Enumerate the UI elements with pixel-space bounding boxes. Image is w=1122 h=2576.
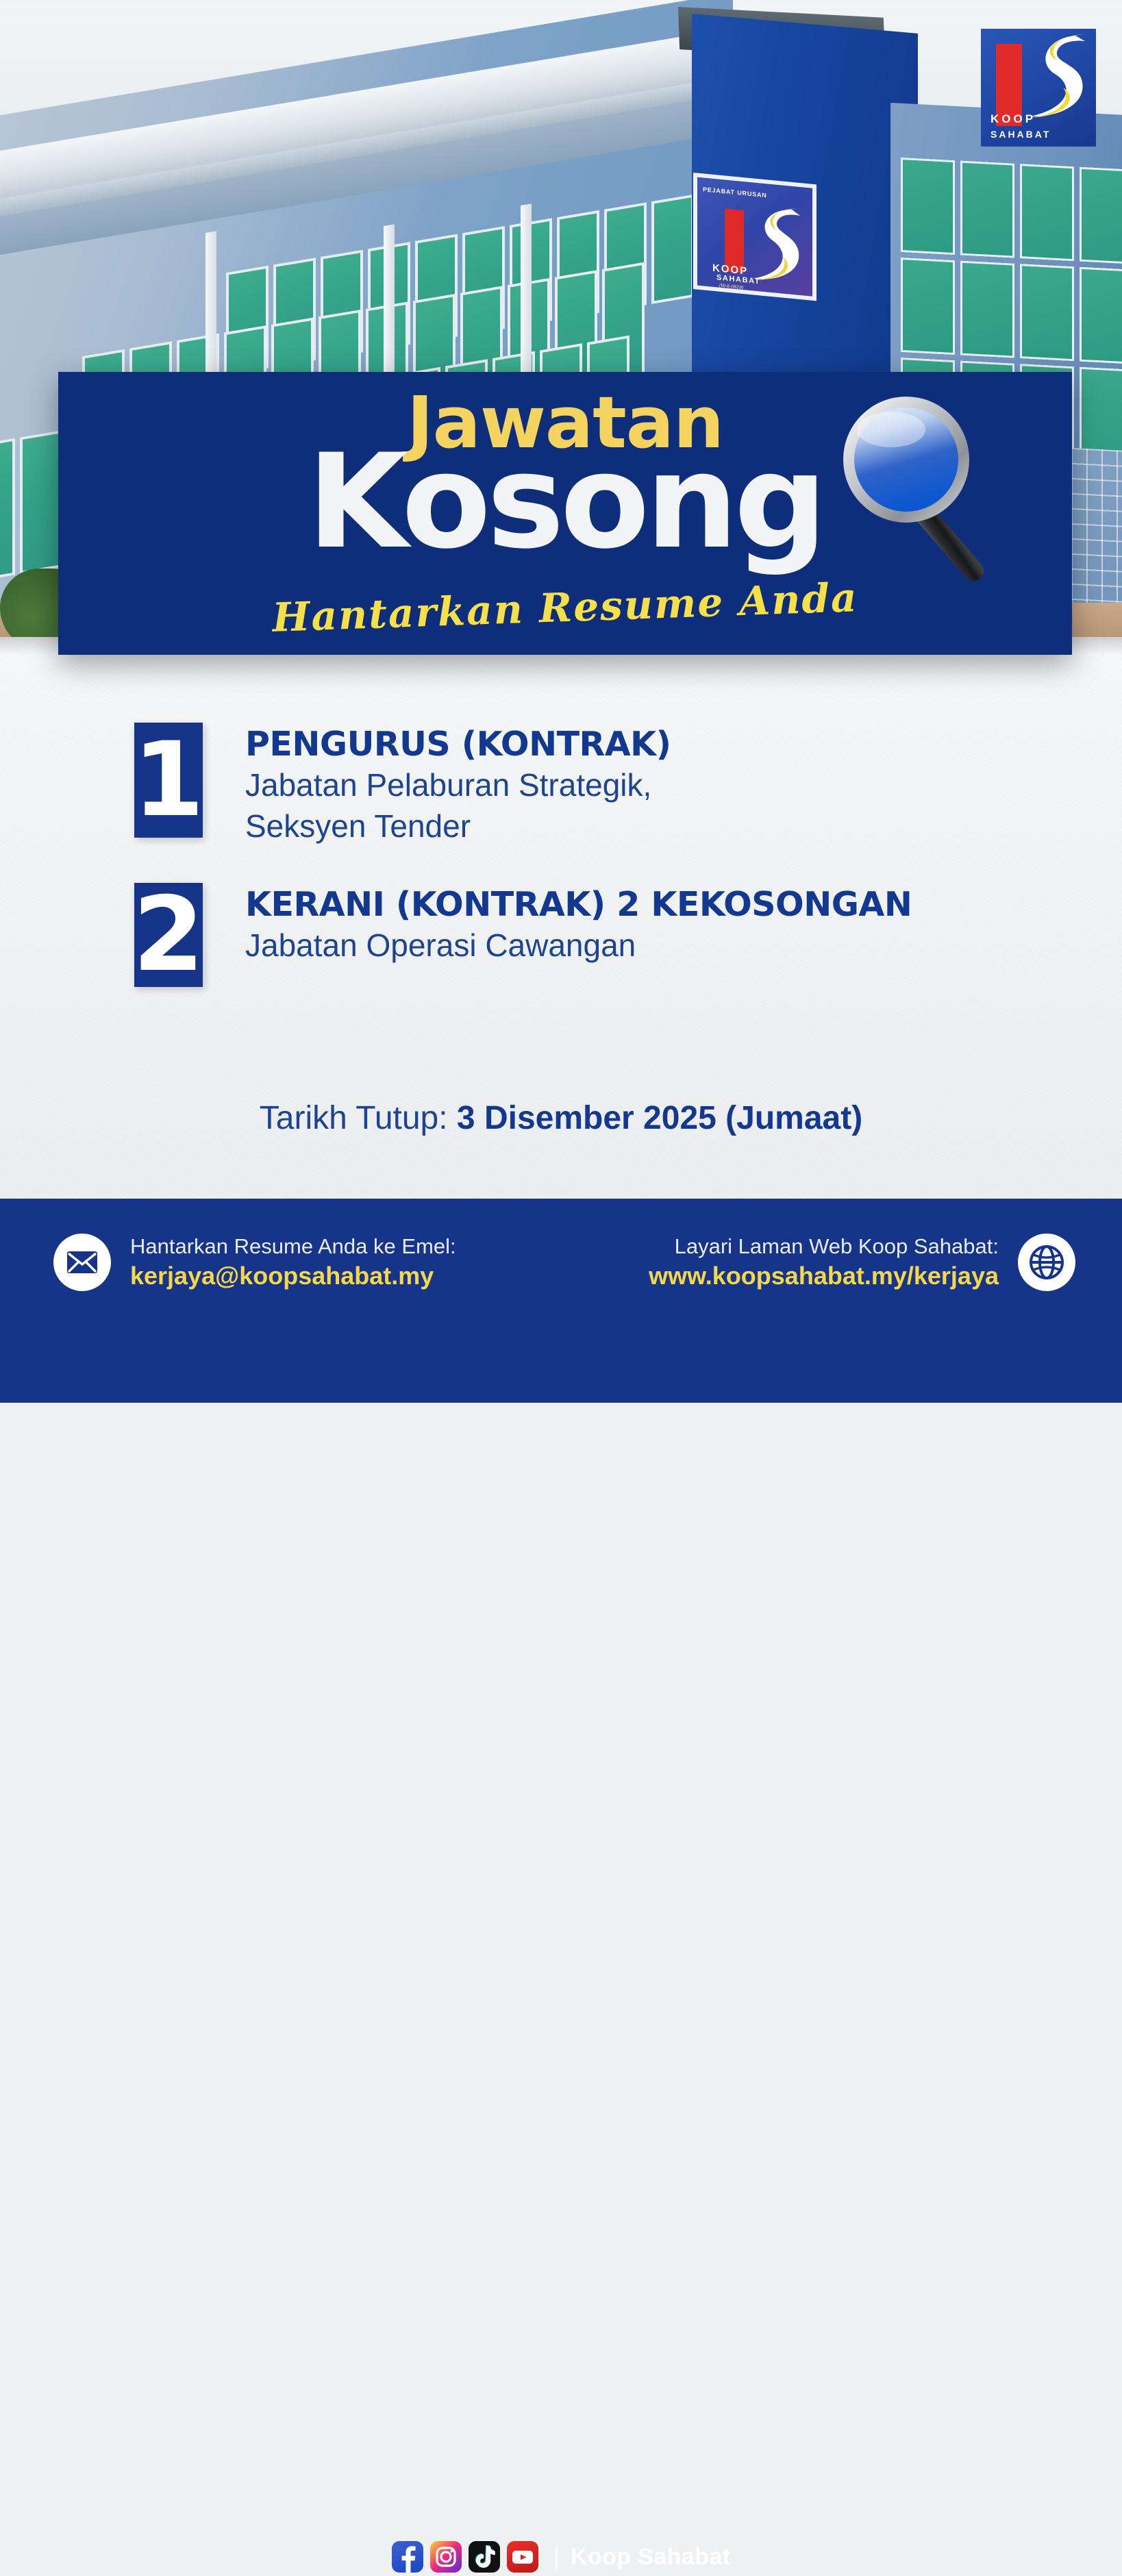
globe-icon bbox=[1018, 1234, 1075, 1291]
job-item: 1 PENGURUS (KONTRAK) Jabatan Pelaburan S… bbox=[0, 723, 1122, 845]
job-list: 1 PENGURUS (KONTRAK) Jabatan Pelaburan S… bbox=[0, 723, 1122, 1025]
signboard-office-label: PEJABAT URUSAN bbox=[703, 186, 767, 199]
banner-title-main: Kosong bbox=[58, 437, 1072, 567]
job-department-line: Seksyen Tender bbox=[245, 808, 671, 845]
banner-subtitle: Hantarkan Resume Anda bbox=[58, 566, 1072, 649]
logo-swoosh-icon bbox=[1012, 32, 1088, 122]
job-number-badge: 1 bbox=[134, 723, 203, 838]
closing-date-label: Tarikh Tutup: bbox=[260, 1100, 448, 1136]
koop-sahabat-logo: KOOP SAHABAT bbox=[981, 29, 1096, 147]
logo-line1: KOOP bbox=[990, 112, 1106, 126]
email-contact[interactable]: Hantarkan Resume Anda ke Emel: kerjaya@k… bbox=[53, 1234, 456, 1291]
website-contact[interactable]: Layari Laman Web Koop Sahabat: www.koops… bbox=[649, 1234, 1075, 1291]
website-label: Layari Laman Web Koop Sahabat: bbox=[649, 1235, 999, 1259]
job-title: KERANI (KONTRAK) 2 KEKOSONGAN bbox=[245, 887, 912, 923]
contact-row: Hantarkan Resume Anda ke Emel: kerjaya@k… bbox=[0, 1218, 1122, 1307]
building-signboard: PEJABAT URUSAN KOOP SAHABAT (W-6-0819) bbox=[693, 173, 816, 301]
envelope-icon bbox=[53, 1234, 111, 1291]
social-separator: | bbox=[553, 2542, 560, 2571]
job-item: 2 KERANI (KONTRAK) 2 KEKOSONGAN Jabatan … bbox=[0, 883, 1122, 987]
website-url[interactable]: www.koopsahabat.my/kerjaya bbox=[649, 1262, 999, 1290]
email-label: Hantarkan Resume Anda ke Emel: bbox=[130, 1235, 456, 1259]
header-banner: Jawatan Kosong Hantarkan Resume Anda bbox=[58, 372, 1072, 655]
social-row: | Koop Sahabat bbox=[0, 2541, 1122, 2573]
instagram-icon[interactable] bbox=[430, 2541, 462, 2573]
job-number-badge: 2 bbox=[134, 883, 203, 987]
tiktok-icon[interactable] bbox=[469, 2541, 500, 2573]
closing-date: Tarikh Tutup: 3 Disember 2025 (Jumaat) bbox=[0, 1099, 1122, 1137]
email-address[interactable]: kerjaya@koopsahabat.my bbox=[130, 1262, 456, 1290]
job-department-line: Jabatan Pelaburan Strategik, bbox=[245, 766, 671, 803]
job-department-line: Jabatan Operasi Cawangan bbox=[245, 927, 912, 964]
facebook-icon[interactable] bbox=[392, 2541, 423, 2573]
closing-date-value: 3 Disember 2025 (Jumaat) bbox=[457, 1100, 862, 1136]
logo-line2: SAHABAT bbox=[990, 129, 1106, 140]
youtube-icon[interactable] bbox=[507, 2541, 538, 2573]
job-title: PENGURUS (KONTRAK) bbox=[245, 727, 671, 762]
footer-brand-name: Koop Sahabat bbox=[571, 2544, 730, 2571]
footer: Hantarkan Resume Anda ke Emel: kerjaya@k… bbox=[0, 1199, 1122, 1403]
